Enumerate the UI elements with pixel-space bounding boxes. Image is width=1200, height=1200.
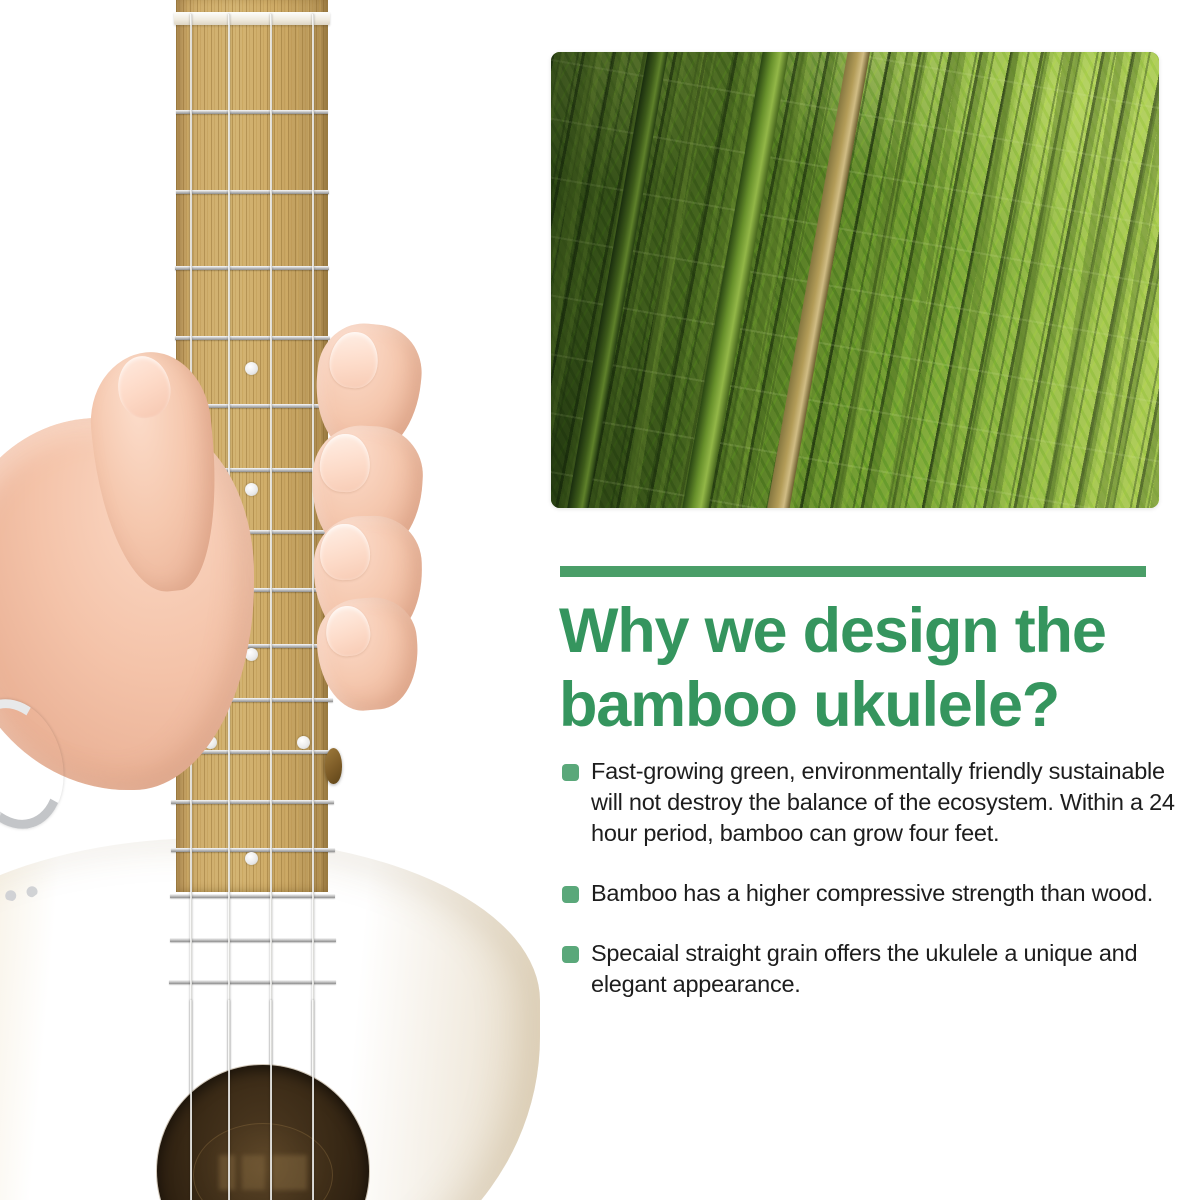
feature-list-item: Specaial straight grain offers the ukule… <box>561 938 1186 1000</box>
bullet-square-icon <box>562 886 579 903</box>
fret-marker <box>245 852 258 865</box>
forest-shading <box>551 52 1159 508</box>
fret <box>175 266 329 270</box>
feature-list: Fast-growing green, environmentally frie… <box>561 756 1186 1000</box>
little-finger <box>313 594 422 714</box>
ukulele-string <box>228 1000 230 1200</box>
content-column: Why we design the bamboo ukulele? Fast-g… <box>545 0 1200 1200</box>
product-photo <box>0 0 545 1200</box>
ukulele-string <box>312 1000 314 1200</box>
fret <box>176 190 329 194</box>
page-title: Why we design the bamboo ukulele? <box>559 594 1179 742</box>
feature-text: Fast-growing green, environmentally frie… <box>591 758 1175 846</box>
fret <box>169 980 336 984</box>
feature-text: Specaial straight grain offers the ukule… <box>591 940 1137 997</box>
page-title-line1: Why we design the <box>559 596 1106 666</box>
accent-rule <box>560 566 1146 577</box>
ukulele-nut <box>174 12 330 25</box>
ukulele-string <box>190 1000 192 1200</box>
feature-text: Bamboo has a higher compressive strength… <box>591 880 1153 906</box>
hand <box>0 330 430 830</box>
marketing-infographic: Why we design the bamboo ukulele? Fast-g… <box>0 0 1200 1200</box>
bamboo-forest-photo <box>551 52 1159 508</box>
feature-list-item: Bamboo has a higher compressive strength… <box>561 878 1186 909</box>
bullet-square-icon <box>562 764 579 781</box>
bullet-square-icon <box>562 946 579 963</box>
feature-list-item: Fast-growing green, environmentally frie… <box>561 756 1186 849</box>
ukulele-string <box>270 1000 272 1200</box>
fret <box>176 110 328 114</box>
fret <box>170 894 335 898</box>
page-title-line2: bamboo ukulele? <box>559 670 1059 740</box>
